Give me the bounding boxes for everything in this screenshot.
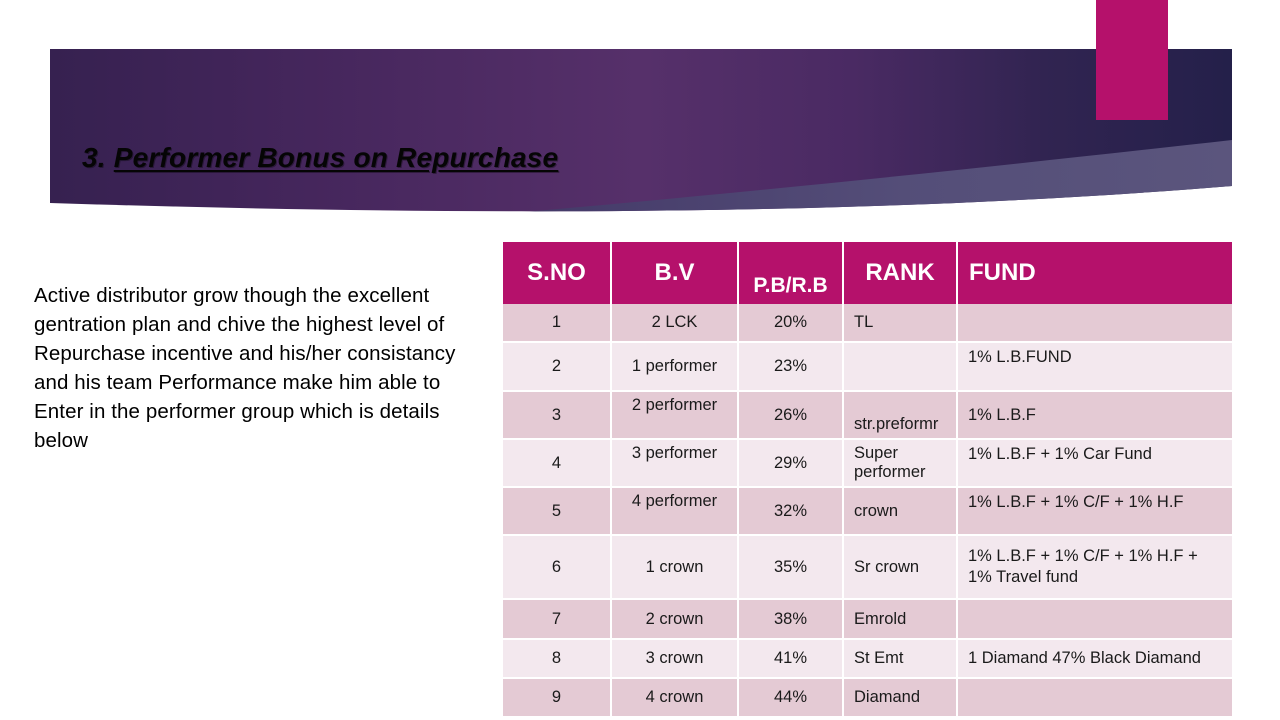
cell-rank: Super performer (843, 439, 957, 487)
cell-rank: crown (843, 487, 957, 535)
table-row: 5 4 performer 32% crown 1% L.B.F + 1% C/… (503, 487, 1232, 535)
table-row: 6 1 crown 35% Sr crown 1% L.B.F + 1% C/F… (503, 535, 1232, 599)
cell-fund: 1% L.B.FUND (957, 342, 1232, 391)
table-body: 1 2 LCK 20% TL 2 1 performer 23% 1% L.B.… (503, 304, 1232, 717)
page-title: 3. Performer Bonus on Repurchase (82, 136, 902, 180)
cell-bv: 1 performer (611, 342, 738, 391)
cell-fund: 1% L.B.F (957, 391, 1232, 439)
table-row: 1 2 LCK 20% TL (503, 304, 1232, 342)
cell-sno: 2 (503, 342, 611, 391)
column-header-pbrb: P.B/R.B (738, 242, 843, 304)
cell-sno: 1 (503, 304, 611, 342)
cell-rank (843, 342, 957, 391)
cell-pbrb: 41% (738, 639, 843, 678)
column-header-rank: RANK (843, 242, 957, 304)
cell-rank: TL (843, 304, 957, 342)
cell-sno: 9 (503, 678, 611, 717)
cell-sno: 6 (503, 535, 611, 599)
cell-fund: 1% L.B.F + 1% Car Fund (957, 439, 1232, 487)
cell-rank: St Emt (843, 639, 957, 678)
cell-rank: Sr crown (843, 535, 957, 599)
cell-sno: 5 (503, 487, 611, 535)
cell-pbrb: 20% (738, 304, 843, 342)
table-row: 8 3 crown 41% St Emt 1 Diamand 47% Black… (503, 639, 1232, 678)
cell-bv: 2 performer (611, 391, 738, 439)
cell-pbrb: 26% (738, 391, 843, 439)
cell-bv: 2 crown (611, 599, 738, 639)
column-header-bv: B.V (611, 242, 738, 304)
cell-fund (957, 304, 1232, 342)
table-row: 4 3 performer 29% Super performer 1% L.B… (503, 439, 1232, 487)
cell-bv: 2 LCK (611, 304, 738, 342)
cell-bv: 3 performer (611, 439, 738, 487)
cell-pbrb: 44% (738, 678, 843, 717)
performer-bonus-table: S.NO B.V P.B/R.B RANK FUND 1 2 LCK 20% T… (503, 242, 1232, 718)
column-header-sno: S.NO (503, 242, 611, 304)
cell-rank: Emrold (843, 599, 957, 639)
title-number: 3. (82, 142, 106, 173)
cell-pbrb: 35% (738, 535, 843, 599)
cell-bv: 4 crown (611, 678, 738, 717)
cell-sno: 4 (503, 439, 611, 487)
title-main: Performer Bonus on Repurchase (114, 142, 559, 173)
cell-bv: 1 crown (611, 535, 738, 599)
cell-sno: 8 (503, 639, 611, 678)
table-row: 7 2 crown 38% Emrold (503, 599, 1232, 639)
magenta-accent-tab (1096, 0, 1168, 120)
table-row: 9 4 crown 44% Diamand (503, 678, 1232, 717)
cell-fund: 1% L.B.F + 1% C/F + 1% H.F (957, 487, 1232, 535)
cell-fund (957, 678, 1232, 717)
cell-pbrb: 29% (738, 439, 843, 487)
cell-fund: 1 Diamand 47% Black Diamand (957, 639, 1232, 678)
table-row: 3 2 performer 26% str.preformr 1% L.B.F (503, 391, 1232, 439)
cell-pbrb: 23% (738, 342, 843, 391)
cell-rank: str.preformr (843, 391, 957, 439)
cell-bv: 3 crown (611, 639, 738, 678)
cell-fund (957, 599, 1232, 639)
body-paragraph: Active distributor grow though the excel… (34, 281, 464, 455)
cell-fund: 1% L.B.F + 1% C/F + 1% H.F + 1% Travel f… (957, 535, 1232, 599)
table-row: 2 1 performer 23% 1% L.B.FUND (503, 342, 1232, 391)
column-header-fund: FUND (957, 242, 1232, 304)
cell-rank: Diamand (843, 678, 957, 717)
cell-sno: 7 (503, 599, 611, 639)
slide-header-banner (0, 0, 1280, 232)
cell-pbrb: 32% (738, 487, 843, 535)
slide-title-text: 3. Performer Bonus on Repurchase (82, 142, 558, 174)
cell-sno: 3 (503, 391, 611, 439)
cell-pbrb: 38% (738, 599, 843, 639)
cell-bv: 4 performer (611, 487, 738, 535)
table-header-row: S.NO B.V P.B/R.B RANK FUND (503, 242, 1232, 304)
